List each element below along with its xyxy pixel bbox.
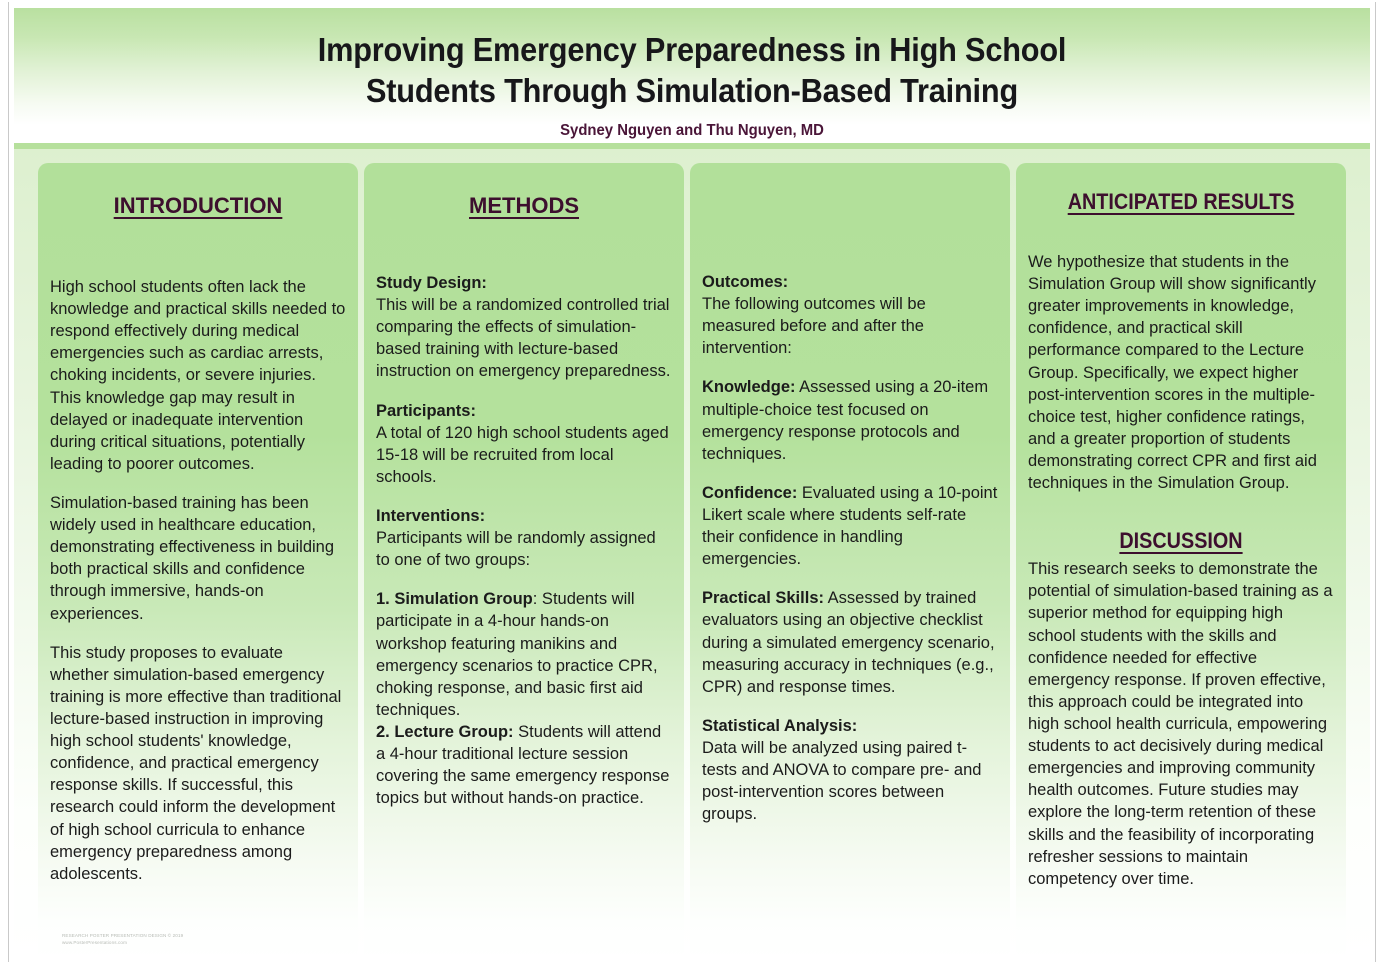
methods-body: Study Design: This will be a randomized …	[376, 219, 672, 809]
column-outcomes: Outcomes: The following outcomes will be…	[690, 163, 1010, 961]
outcomes-block-confidence: Confidence: Evaluated using a 10-point L…	[702, 482, 998, 570]
block-label: Practical Skills:	[702, 589, 824, 607]
section-heading-discussion: DISCUSSION	[1043, 494, 1318, 558]
block-label: Outcomes:	[702, 273, 788, 291]
paragraph: This study proposes to evaluate whether …	[50, 642, 346, 885]
poster-authors: Sydney Nguyen and Thu Nguyen, MD	[61, 112, 1322, 140]
column-methods: METHODS Study Design: This will be a ran…	[364, 163, 684, 961]
block-label: 1. Simulation Group	[376, 590, 533, 608]
paragraph: Simulation-based training has been widel…	[50, 492, 346, 625]
paragraph: We hypothesize that students in the Simu…	[1028, 251, 1334, 494]
block-label: Interventions:	[376, 507, 485, 525]
section-heading-anticipated-results: ANTICIPATED RESULTS	[1043, 163, 1318, 215]
methods-block-simulation-group: 1. Simulation Group: Students will parti…	[376, 588, 672, 721]
methods-block-interventions: Interventions: Participants will be rand…	[376, 505, 672, 571]
methods-block-participants: Participants: A total of 120 high school…	[376, 400, 672, 488]
discussion-body: This research seeks to demonstrate the p…	[1028, 558, 1334, 890]
poster-watermark: RESEARCH POSTER PRESENTATION DESIGN © 20…	[62, 932, 202, 947]
anticipated-results-body: We hypothesize that students in the Simu…	[1028, 215, 1334, 494]
outcomes-body: Outcomes: The following outcomes will be…	[702, 163, 998, 825]
poster-title-line-2: Students Through Simulation-Based Traini…	[366, 72, 1018, 109]
watermark-line-1: RESEARCH POSTER PRESENTATION DESIGN © 20…	[62, 932, 202, 939]
research-poster: Improving Emergency Preparedness in High…	[0, 0, 1384, 964]
outcomes-block-practical-skills: Practical Skills: Assessed by trained ev…	[702, 587, 998, 698]
paragraph: High school students often lack the know…	[50, 276, 346, 475]
block-label: 2. Lecture Group:	[376, 723, 514, 741]
outcomes-block-outcomes: Outcomes: The following outcomes will be…	[702, 271, 998, 359]
introduction-body: High school students often lack the know…	[50, 219, 346, 885]
block-label: Study Design:	[376, 274, 487, 292]
poster-title: Improving Emergency Preparedness in High…	[61, 8, 1322, 112]
block-label: Confidence:	[702, 484, 797, 502]
methods-block-lecture-group: 2. Lecture Group: Students will attend a…	[376, 721, 672, 809]
poster-header: Improving Emergency Preparedness in High…	[14, 8, 1370, 141]
column-introduction: INTRODUCTION High school students often …	[38, 163, 358, 961]
block-text: Data will be analyzed using paired t-tes…	[702, 739, 981, 823]
outcomes-block-statistical-analysis: Statistical Analysis: Data will be analy…	[702, 715, 998, 826]
section-heading-methods: METHODS	[376, 163, 672, 219]
column-anticipated-results: ANTICIPATED RESULTS We hypothesize that …	[1016, 163, 1346, 961]
poster-columns: INTRODUCTION High school students often …	[14, 149, 1370, 961]
poster-title-line-1: Improving Emergency Preparedness in High…	[318, 31, 1066, 68]
block-text: Participants will be randomly assigned t…	[376, 529, 656, 569]
section-heading-introduction: INTRODUCTION	[50, 163, 346, 219]
block-label: Participants:	[376, 402, 476, 420]
block-text: : Students will participate in a 4-hour …	[376, 590, 658, 719]
watermark-line-2: www.PosterPresentations.com	[62, 939, 202, 946]
block-text: This will be a randomized controlled tri…	[376, 296, 670, 380]
block-label: Knowledge:	[702, 378, 796, 396]
block-label: Statistical Analysis:	[702, 717, 857, 735]
methods-block-study-design: Study Design: This will be a randomized …	[376, 272, 672, 383]
block-text: The following outcomes will be measured …	[702, 295, 926, 357]
paragraph: This research seeks to demonstrate the p…	[1028, 558, 1334, 890]
block-text: A total of 120 high school students aged…	[376, 424, 669, 486]
outcomes-block-knowledge: Knowledge: Assessed using a 20-item mult…	[702, 376, 998, 464]
